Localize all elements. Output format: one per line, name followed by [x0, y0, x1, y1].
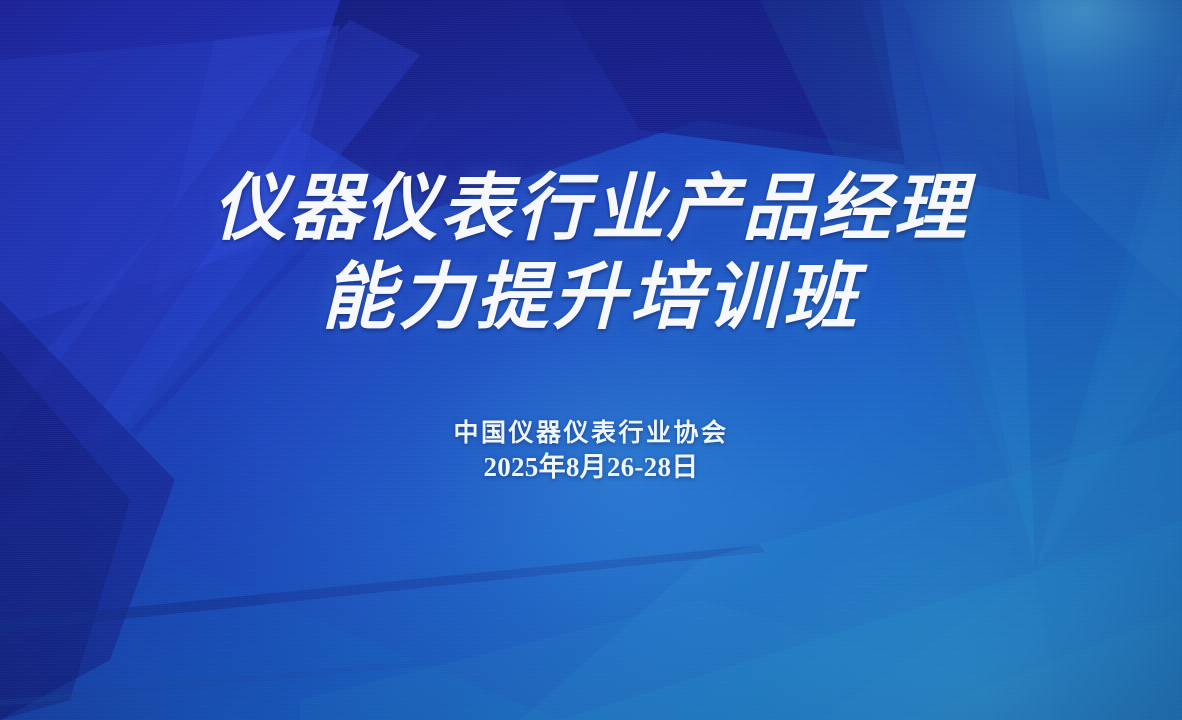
- banner-subtitle: 中国仪器仪表行业协会 2025年8月26-28日: [453, 418, 728, 485]
- title-line-1: 仪器仪表行业产品经理: [213, 172, 969, 245]
- title-line-2: 能力提升培训班: [213, 261, 969, 334]
- subtitle-organization: 中国仪器仪表行业协会: [453, 418, 728, 450]
- banner-content: 仪器仪表行业产品经理 能力提升培训班 中国仪器仪表行业协会 2025年8月26-…: [0, 0, 1182, 720]
- subtitle-dates: 2025年8月26-28日: [453, 450, 728, 485]
- banner-title: 仪器仪表行业产品经理 能力提升培训班: [213, 172, 969, 334]
- event-banner: 仪器仪表行业产品经理 能力提升培训班 中国仪器仪表行业协会 2025年8月26-…: [0, 0, 1182, 720]
